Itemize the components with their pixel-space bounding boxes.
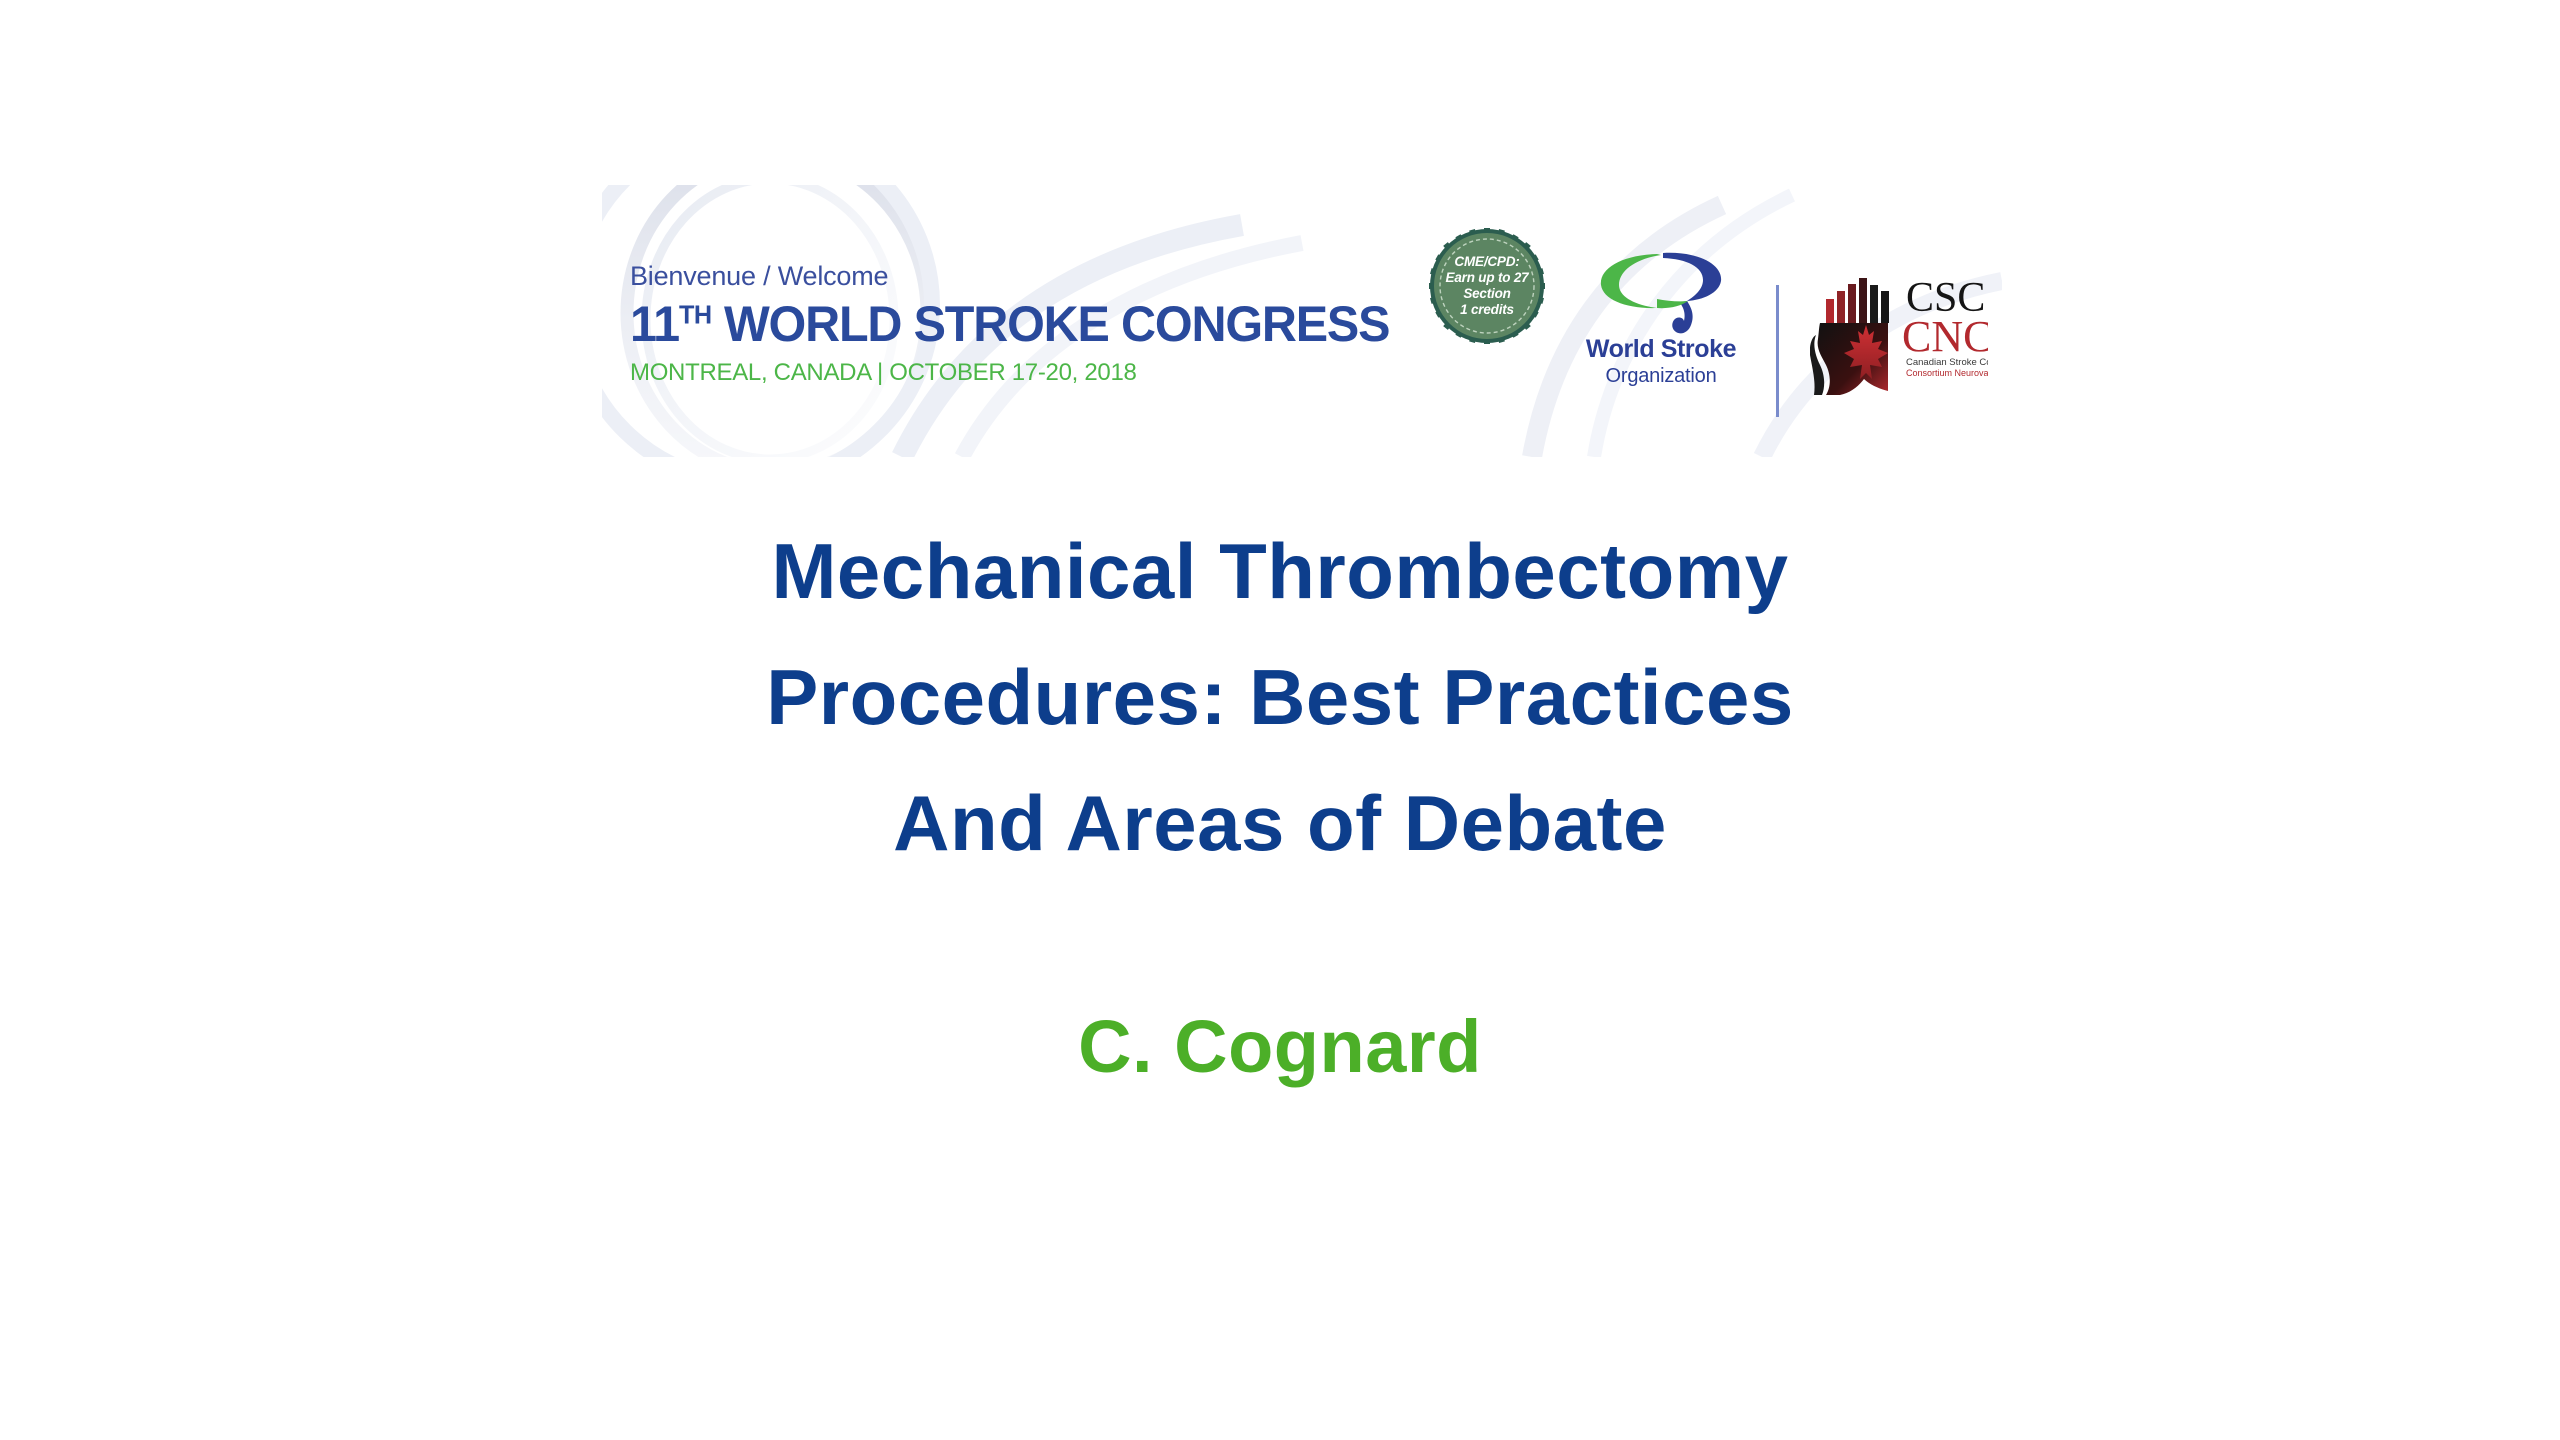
wso-logo-name: World Stroke — [1570, 337, 1752, 362]
author-name: C. Cognard — [0, 1010, 2560, 1084]
congress-banner: Bienvenue / Welcome 11TH WORLD STROKE CO… — [602, 185, 2002, 457]
cme-credits-badge: CME/CPD: Earn up to 27 Section 1 credits — [1428, 227, 1546, 345]
title-line-2: Procedures: Best Practices — [0, 634, 2560, 760]
world-stroke-organization-logo: World Stroke Organization — [1570, 245, 1752, 395]
congress-number: 11 — [630, 296, 679, 352]
cme-line-1: CME/CPD: — [1454, 254, 1519, 270]
canadian-stroke-consortium-logo: CSC CNC Canadian Stroke Consortium Conso… — [1810, 269, 1988, 397]
wso-logo-subtitle: Organization — [1570, 366, 1752, 386]
wso-swoosh-icon — [1591, 245, 1731, 335]
csc-caption-en: Canadian Stroke Consortium — [1906, 357, 1988, 368]
congress-name: WORLD STROKE CONGRESS — [724, 296, 1389, 352]
banner-welcome-text: Bienvenue / Welcome — [630, 263, 1413, 290]
cme-line-4: 1 credits — [1460, 302, 1514, 318]
cme-badge-text: CME/CPD: Earn up to 27 Section 1 credits — [1428, 227, 1546, 345]
presentation-title: Mechanical Thrombectomy Procedures: Best… — [0, 508, 2560, 886]
banner-location-date: MONTREAL, CANADA | OCTOBER 17-20, 2018 — [630, 361, 1413, 385]
title-line-1: Mechanical Thrombectomy — [0, 508, 2560, 634]
cme-line-3: Section — [1463, 286, 1510, 302]
congress-ordinal-suffix: TH — [679, 299, 712, 329]
csc-bar-chart-icon — [1826, 278, 1889, 323]
csc-acronym-bottom: CNC — [1902, 312, 1988, 361]
title-line-3: And Areas of Debate — [0, 760, 2560, 886]
banner-congress-title: 11TH WORLD STROKE CONGRESS — [630, 299, 1389, 349]
title-slide: Bienvenue / Welcome 11TH WORLD STROKE CO… — [0, 0, 2560, 1440]
csc-caption-fr: Consortium Neurovasculaire Canadien — [1906, 368, 1988, 378]
cme-line-2: Earn up to 27 — [1446, 270, 1529, 286]
banner-text-group: Bienvenue / Welcome 11TH WORLD STROKE CO… — [630, 263, 1413, 385]
logo-divider-line — [1776, 285, 1779, 417]
